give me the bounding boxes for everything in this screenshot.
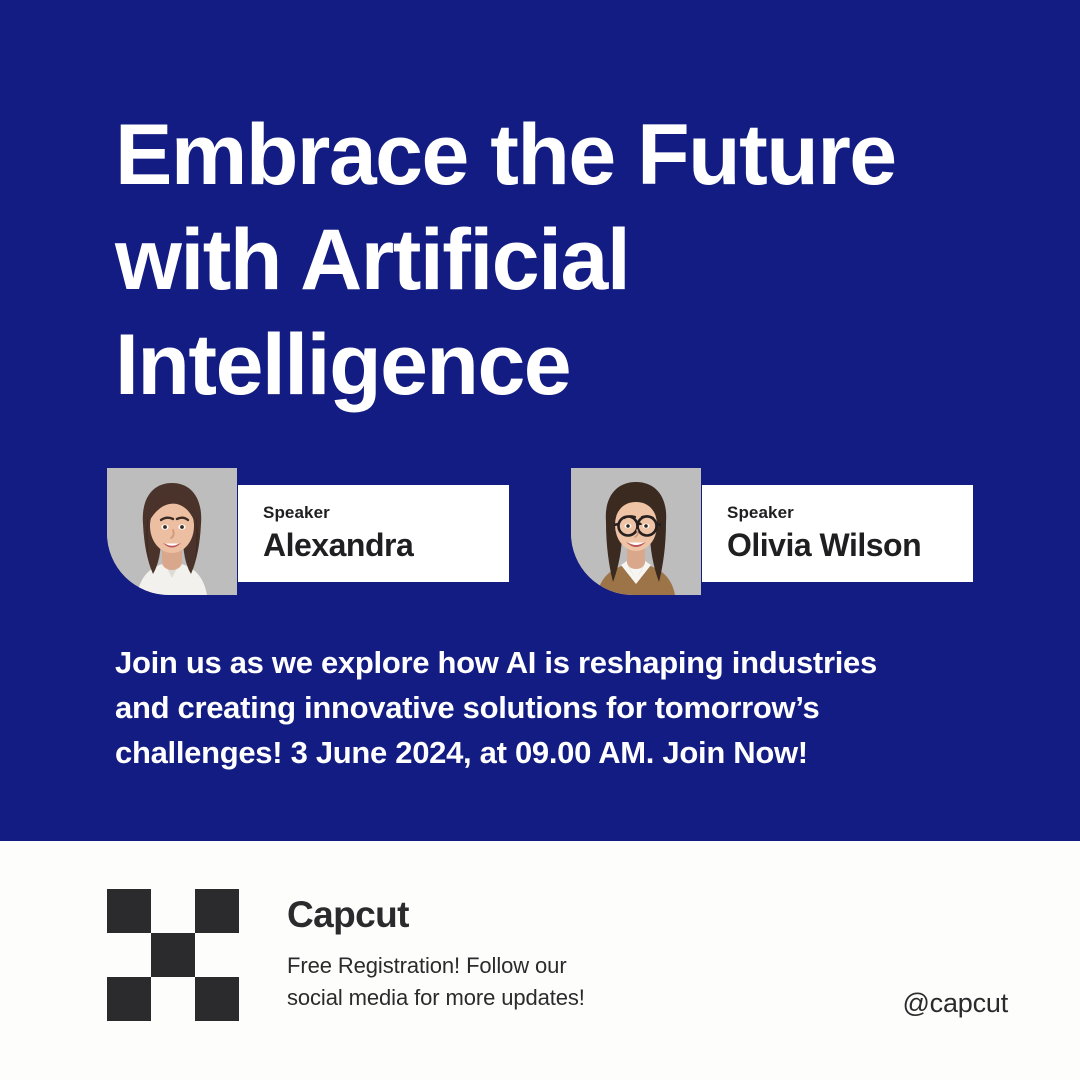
logo-cell [151, 977, 195, 1021]
hero-section: Embrace the Future with Artificial Intel… [0, 0, 1080, 841]
speaker-role-label: Speaker [727, 503, 973, 523]
speaker-name-plate: Speaker Alexandra [238, 485, 509, 582]
brand-name: Capcut [287, 893, 767, 937]
speaker-name: Olivia Wilson [727, 526, 973, 564]
brand-block: Capcut Free Registration! Follow our soc… [287, 893, 767, 1014]
logo-cell [107, 933, 151, 977]
body-line-2: and creating innovative solutions for to… [115, 685, 995, 730]
capcut-checker-logo [107, 889, 239, 1021]
body-line-3: challenges! 3 June 2024, at 09.00 AM. Jo… [115, 730, 995, 775]
event-description: Join us as we explore how AI is reshapin… [115, 640, 995, 775]
logo-cell [107, 977, 151, 1021]
speaker-role-label: Speaker [263, 503, 509, 523]
poster-canvas: Embrace the Future with Artificial Intel… [0, 0, 1080, 1080]
logo-cell [151, 933, 195, 977]
speaker-photo-alexandra [107, 468, 237, 595]
tagline-line-2: social media for more updates! [287, 982, 767, 1014]
speaker-name-plate: Speaker Olivia Wilson [702, 485, 973, 582]
logo-cell [107, 889, 151, 933]
logo-cell [195, 889, 239, 933]
logo-cell [195, 977, 239, 1021]
social-handle[interactable]: @capcut [902, 988, 1008, 1019]
speaker-photo-olivia-wilson [571, 468, 701, 595]
speaker-name: Alexandra [263, 526, 509, 564]
brand-tagline: Free Registration! Follow our social med… [287, 950, 767, 1014]
body-line-1: Join us as we explore how AI is reshapin… [115, 640, 995, 685]
logo-cell [151, 889, 195, 933]
tagline-line-1: Free Registration! Follow our [287, 950, 767, 982]
logo-cell [195, 933, 239, 977]
